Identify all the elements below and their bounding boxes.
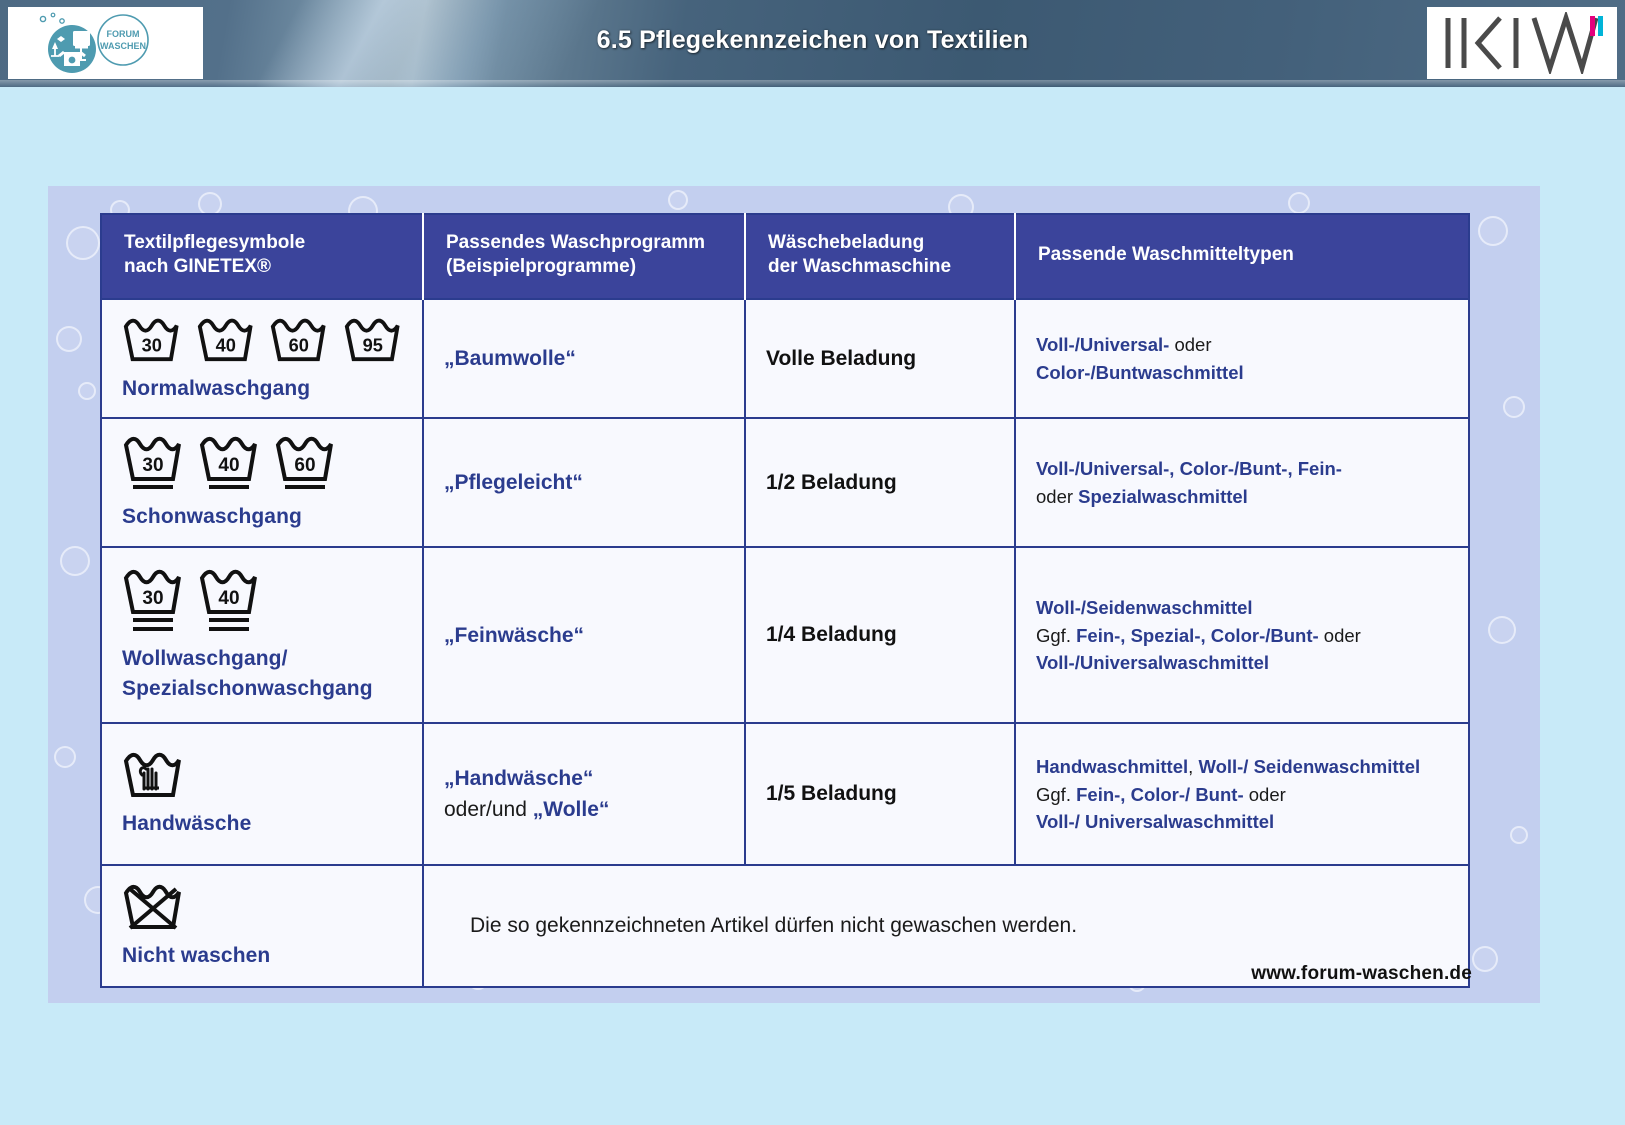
wash-temperature: 60: [294, 455, 315, 476]
detergent-list: Handwaschmittel, Woll-/ Seidenwaschmitte…: [1036, 753, 1448, 835]
wash-temperature: 30: [142, 588, 163, 609]
table-row: 3040 Wollwaschgang/ Spezialschonwaschgan…: [101, 547, 1469, 723]
symbol-label: Normalwaschgang: [122, 374, 402, 404]
symbol-label: Nicht waschen: [122, 941, 402, 971]
detergent-line: Ggf. Fein-, Spezial-, Color-/Bunt- oder: [1036, 622, 1448, 649]
content-panel: Textilpflegesymbole nach GINETEX® Passen…: [48, 186, 1540, 1003]
column-header-load-line2: der Waschmaschine: [768, 255, 996, 279]
column-header-symbols-line1: Textilpflegesymbole: [124, 231, 404, 255]
detergent-line: Voll-/Universalwaschmittel: [1036, 649, 1448, 676]
wash-temperature: 95: [362, 334, 382, 355]
cell-symbols: 3040 Wollwaschgang/ Spezialschonwaschgan…: [101, 547, 423, 723]
table-row: Handwäsche „Handwäsche“ oder/und „Wolle“…: [101, 723, 1469, 865]
cell-program: „Pflegeleicht“: [423, 418, 745, 547]
program-name: „Pflegeleicht“: [444, 467, 724, 499]
gentle-bar: [209, 485, 249, 489]
detergent-type: Spezialwaschmittel: [1078, 486, 1248, 507]
cell-load: 1/5 Beladung: [745, 723, 1015, 865]
detergent-type: Color-/Buntwaschmittel: [1036, 362, 1244, 383]
cell-symbols: Nicht waschen: [101, 865, 423, 987]
detergent-line: Ggf. Fein-, Color-/ Bunt- oder: [1036, 781, 1448, 808]
wash-temperature: 40: [218, 588, 239, 609]
program-name: „Handwäsche“: [444, 763, 724, 795]
wash-tub-icon: 95: [343, 314, 403, 366]
load-value: 1/5 Beladung: [766, 782, 994, 806]
detergent-line: Voll-/ Universalwaschmittel: [1036, 808, 1448, 835]
cell-symbols: 304060 Schonwaschgang: [101, 418, 423, 547]
column-header-symbols: Textilpflegesymbole nach GINETEX®: [101, 214, 423, 299]
table-row: 304060 Schonwaschgang „Pflegeleicht“ 1/2…: [101, 418, 1469, 547]
wash-tub-icon: 60: [269, 314, 329, 366]
detergent-type: Voll-/ Universalwaschmittel: [1036, 811, 1274, 832]
detergent-type: Fein-, Color-/ Bunt-: [1076, 784, 1244, 805]
normalwaschgang-symbols: 30406095: [122, 314, 402, 366]
bubble-decoration: [1478, 216, 1508, 246]
bubble-decoration: [1510, 826, 1528, 844]
detergent-line: Voll-/Universal-, Color-/Bunt-, Fein-: [1036, 455, 1448, 482]
bubble-decoration: [78, 382, 96, 400]
cell-symbols: Handwäsche: [101, 723, 423, 865]
wash-tub-icon: 40: [198, 566, 260, 636]
detergent-line: Woll-/Seidenwaschmittel: [1036, 594, 1448, 621]
page-title: 6.5 Pflegekennzeichen von Textilien: [0, 26, 1625, 55]
hand-glyph: [140, 768, 156, 789]
symbol-label-line1: Wollwaschgang/: [122, 644, 402, 674]
nicht-waschen-symbol: [122, 881, 402, 933]
gentle-bar: [209, 627, 249, 631]
bubble-decoration: [1503, 396, 1525, 418]
cell-load: Volle Beladung: [745, 299, 1015, 419]
wash-temperature: 40: [215, 334, 235, 355]
detergent-connector: ,: [1188, 756, 1198, 777]
wash-tub-icon: 40: [196, 314, 256, 366]
bubble-decoration: [54, 746, 76, 768]
load-value: 1/2 Beladung: [766, 471, 994, 495]
detergent-list: Voll-/Universal- oderColor-/Buntwaschmit…: [1036, 331, 1448, 386]
wollwaschgang-symbols: 3040: [122, 566, 402, 636]
footer-url: www.forum-waschen.de: [1251, 963, 1472, 985]
ikw-logo: [1427, 7, 1617, 79]
cell-detergent: Voll-/Universal- oderColor-/Buntwaschmit…: [1015, 299, 1469, 419]
column-header-program-line2: (Beispielprogramme): [446, 255, 726, 279]
detergent-list: Voll-/Universal-, Color-/Bunt-, Fein-ode…: [1036, 455, 1448, 510]
detergent-type: Voll-/Universal-: [1036, 334, 1169, 355]
bubble-decoration: [1488, 616, 1516, 644]
detergent-connector: Ggf.: [1036, 625, 1076, 646]
detergent-connector: oder: [1319, 625, 1361, 646]
detergent-type: Voll-/Universal-, Color-/Bunt-, Fein-: [1036, 458, 1342, 479]
column-header-detergent-line1: Passende Waschmitteltypen: [1038, 243, 1450, 267]
wash-temperature: 30: [142, 334, 162, 355]
table-header-row: Textilpflegesymbole nach GINETEX® Passen…: [101, 214, 1469, 299]
handwaesche-symbol: [122, 749, 402, 801]
symbol-label: Schonwaschgang: [122, 502, 402, 532]
program-name: „Baumwolle“: [444, 343, 724, 375]
program-alt-prefix: oder/und: [444, 798, 533, 821]
detergent-line: Handwaschmittel, Woll-/ Seidenwaschmitte…: [1036, 753, 1448, 780]
wash-tub-icon: 40: [198, 433, 260, 494]
bubble-decoration: [668, 190, 688, 210]
cell-program: „Feinwäsche“: [423, 547, 745, 723]
hand-wash-tub-icon: [122, 749, 184, 801]
symbol-label: Handwäsche: [122, 809, 402, 839]
cell-program: „Handwäsche“ oder/und „Wolle“: [423, 723, 745, 865]
column-header-program-line1: Passendes Waschprogramm: [446, 231, 726, 255]
detergent-type: Handwaschmittel: [1036, 756, 1188, 777]
wash-temperature: 30: [142, 455, 163, 476]
program-name: „Feinwäsche“: [444, 620, 724, 652]
column-header-load-line1: Wäschebeladung: [768, 231, 996, 255]
bubble-decoration: [1288, 192, 1310, 214]
detergent-type: Woll-/ Seidenwaschmittel: [1198, 756, 1420, 777]
gentle-bar: [133, 627, 173, 631]
cell-detergent: Voll-/Universal-, Color-/Bunt-, Fein-ode…: [1015, 418, 1469, 547]
load-value: 1/4 Beladung: [766, 623, 994, 647]
symbol-label-line2: Spezialschonwaschgang: [122, 674, 402, 704]
detergent-connector: oder: [1169, 334, 1211, 355]
gentle-bar: [133, 618, 173, 622]
detergent-type: Fein-, Spezial-, Color-/Bunt-: [1076, 625, 1319, 646]
no-wash-tub-icon: [122, 881, 184, 933]
care-symbols-table: Textilpflegesymbole nach GINETEX® Passen…: [100, 213, 1470, 988]
wash-tub-icon: 30: [122, 314, 182, 366]
table-body: 30406095 Normalwaschgang „Baumwolle“ Vol…: [101, 299, 1469, 988]
detergent-line: Color-/Buntwaschmittel: [1036, 359, 1448, 386]
program-name-alt: oder/und „Wolle“: [444, 794, 724, 826]
wash-tub-icon: 30: [122, 433, 184, 494]
top-banner: FORUM WASCHEN 6.5 Pflegekennzeichen von …: [0, 0, 1625, 87]
bubble-decoration: [60, 546, 90, 576]
bubble-decoration: [66, 226, 100, 260]
detergent-connector: Ggf.: [1036, 784, 1076, 805]
symbol-label: Wollwaschgang/ Spezialschonwaschgang: [122, 644, 402, 704]
detergent-line: oder Spezialwaschmittel: [1036, 483, 1448, 510]
bubble-decoration: [1472, 946, 1498, 972]
gentle-bar: [285, 485, 325, 489]
wash-tub-icon: 30: [122, 566, 184, 636]
column-header-symbols-line2: nach GINETEX®: [124, 255, 404, 279]
column-header-program: Passendes Waschprogramm (Beispielprogram…: [423, 214, 745, 299]
schonwaschgang-symbols: 304060: [122, 433, 402, 494]
detergent-line: Voll-/Universal- oder: [1036, 331, 1448, 358]
load-value: Volle Beladung: [766, 347, 994, 371]
wash-temperature: 60: [289, 334, 309, 355]
cell-detergent: Woll-/SeidenwaschmittelGgf. Fein-, Spezi…: [1015, 547, 1469, 723]
detergent-type: Voll-/Universalwaschmittel: [1036, 652, 1269, 673]
cell-load: 1/4 Beladung: [745, 547, 1015, 723]
program-alt-quote: „Wolle“: [533, 798, 610, 821]
gentle-bar: [133, 485, 173, 489]
table-row: 30406095 Normalwaschgang „Baumwolle“ Vol…: [101, 299, 1469, 419]
gentle-bar: [209, 618, 249, 622]
wash-temperature: 40: [218, 455, 239, 476]
column-header-detergent: Passende Waschmitteltypen: [1015, 214, 1469, 299]
detergent-list: Woll-/SeidenwaschmittelGgf. Fein-, Spezi…: [1036, 594, 1448, 676]
column-header-load: Wäschebeladung der Waschmaschine: [745, 214, 1015, 299]
detergent-connector: oder: [1036, 486, 1078, 507]
detergent-connector: oder: [1244, 784, 1286, 805]
detergent-type: Woll-/Seidenwaschmittel: [1036, 597, 1253, 618]
cell-load: 1/2 Beladung: [745, 418, 1015, 547]
cell-program: „Baumwolle“: [423, 299, 745, 419]
ikw-logo-mark: [1438, 12, 1606, 74]
no-wash-note: Die so gekennzeichneten Artikel dürfen n…: [444, 914, 1448, 938]
cell-detergent: Handwaschmittel, Woll-/ Seidenwaschmitte…: [1015, 723, 1469, 865]
wash-tub-icon: 60: [274, 433, 336, 494]
cell-symbols: 30406095 Normalwaschgang: [101, 299, 423, 419]
bubble-decoration: [56, 326, 82, 352]
